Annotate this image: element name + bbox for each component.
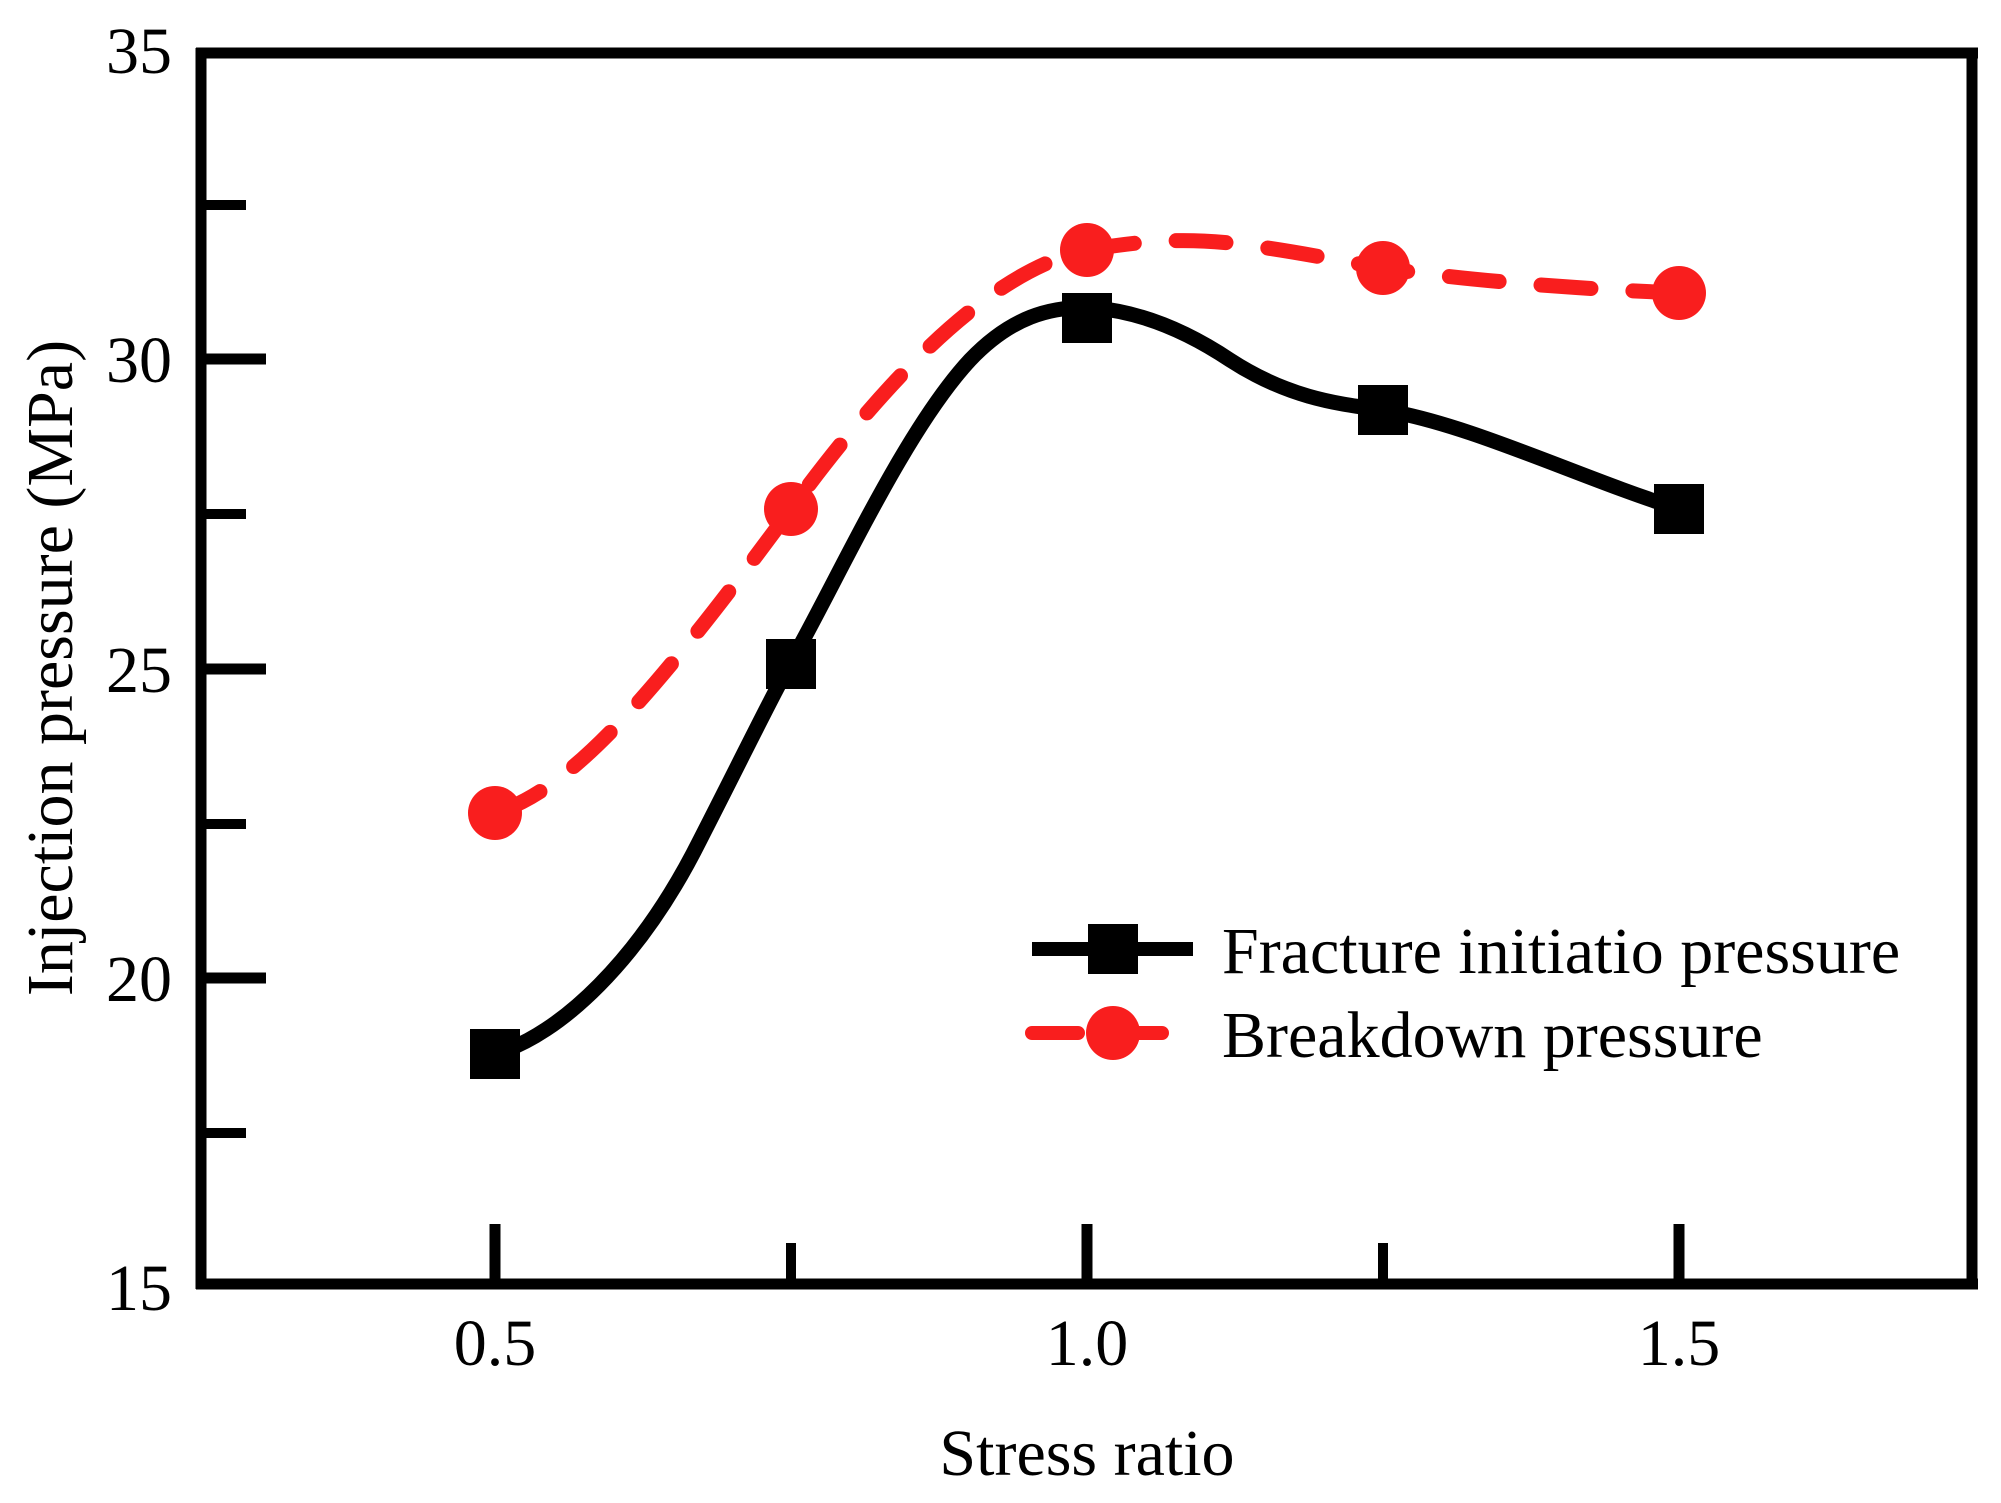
data-point-marker [468,786,522,840]
legend-square-marker-icon [1088,924,1138,974]
y-tick-label-30: 30 [106,324,172,397]
x-tick-label-05: 0.5 [454,1307,537,1380]
legend-circle-marker-icon [1086,1006,1140,1060]
data-point-marker [1654,484,1704,534]
data-point-marker [766,639,816,689]
y-tick-label-20: 20 [106,943,172,1016]
x-axis-title: Stress ratio [939,1417,1234,1490]
data-point-marker [1358,385,1408,435]
x-tick-label-15: 1.5 [1638,1307,1721,1380]
data-point-marker [470,1029,520,1079]
data-point-marker [1356,241,1410,295]
data-point-marker [764,482,818,536]
y-axis-title: Injection pressure (MPa) [14,340,87,996]
y-tick-label-25: 25 [106,634,172,707]
data-point-marker [1652,266,1706,320]
chart-background [0,0,2001,1503]
legend-label-fracture-initiation-pressure: Fracture initiatio pressure [1222,915,1900,988]
data-point-marker [1062,293,1112,343]
x-tick-label-10: 1.0 [1046,1307,1129,1380]
data-point-marker [1060,223,1114,277]
chart-page: 35 30 25 20 15 0.5 1.0 1.5 Stress ratio … [0,0,2001,1503]
injection-pressure-chart: 35 30 25 20 15 0.5 1.0 1.5 Stress ratio … [0,0,2001,1503]
y-tick-label-15: 15 [106,1252,172,1325]
legend-label-breakdown-pressure: Breakdown pressure [1222,999,1763,1072]
y-tick-label-35: 35 [106,15,172,88]
